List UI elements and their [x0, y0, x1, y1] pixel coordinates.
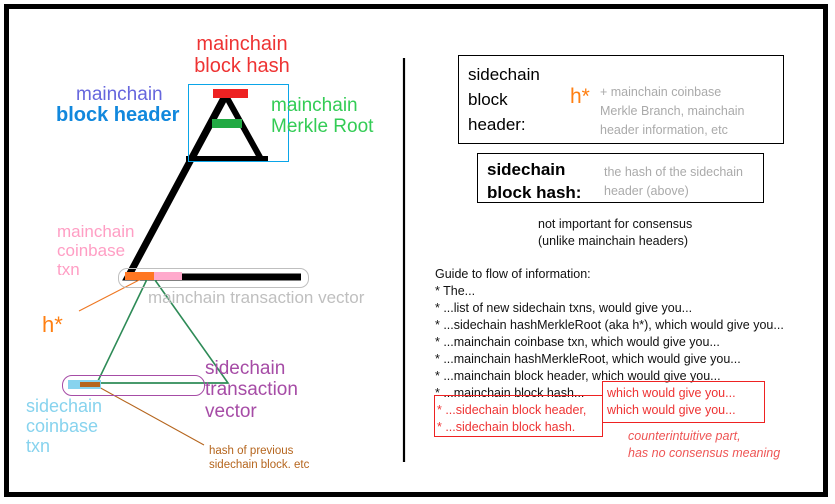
guide-item-1: * ...list of new sidechain txns, would g…	[435, 302, 692, 315]
sidechain-block-header-title: sidechain block header:	[468, 62, 540, 137]
label-mainchain-block-hash: mainchain block hash	[182, 33, 302, 78]
guide-red-item-0: * ...sidechain block header,	[437, 404, 586, 417]
guide-item-0: * The...	[435, 285, 475, 298]
consensus-note: not important for consensus (unlike main…	[538, 216, 692, 251]
counterintuitive-caption: counterintuitive part, has no consensus …	[628, 428, 780, 463]
label-mainchain-block-header-line2: block header	[56, 104, 179, 126]
label-mainchain-block-header-line1: mainchain	[76, 84, 163, 105]
label-sidechain-coinbase-txn: sidechain coinbase txn	[26, 396, 102, 456]
label-sidechain-transaction-vector: sidechain transaction vector	[205, 358, 298, 422]
sidechain-block-header-hstar: h*	[570, 85, 590, 109]
label-mainchain-transaction-vector: mainchain transaction vector	[148, 288, 364, 307]
mainchain-block-hash-bar	[213, 89, 248, 98]
guide-red-right-0: which would give you...	[607, 387, 736, 400]
guide-item-2: * ...sidechain hashMerkleRoot (aka h*), …	[435, 319, 784, 332]
label-hash-of-previous-sidechain-block: hash of previous sidechain block. etc	[209, 444, 309, 473]
mainchain-coinbase-pink-bar	[154, 272, 182, 280]
mainchain-merkle-root-bar	[212, 119, 242, 128]
sidechain-block-hash-note: the hash of the sidechain header (above)	[604, 163, 743, 202]
label-mainchain-merkle-root: mainchain Merkle Root	[271, 95, 373, 138]
guide-item-3: * ...mainchain coinbase txn, which would…	[435, 336, 720, 349]
label-mainchain-coinbase-txn: mainchain coinbase txn	[57, 222, 135, 279]
sidechain-prev-hash-brown-bar	[80, 382, 100, 387]
diagram-canvas: mainchain block hash mainchain block hea…	[0, 0, 835, 504]
sidechain-block-hash-title: sidechain block hash:	[487, 159, 581, 205]
sidechain-block-header-note: + mainchain coinbase Merkle Branch, main…	[600, 83, 745, 140]
guide-red-right-1: which would give you...	[607, 404, 736, 417]
label-h-star-left: h*	[42, 313, 63, 338]
guide-item-4: * ...mainchain hashMerkleRoot, which wou…	[435, 353, 741, 366]
guide-red-item-1: * ...sidechain block hash.	[437, 421, 575, 434]
guide-heading: Guide to flow of information:	[435, 268, 591, 281]
